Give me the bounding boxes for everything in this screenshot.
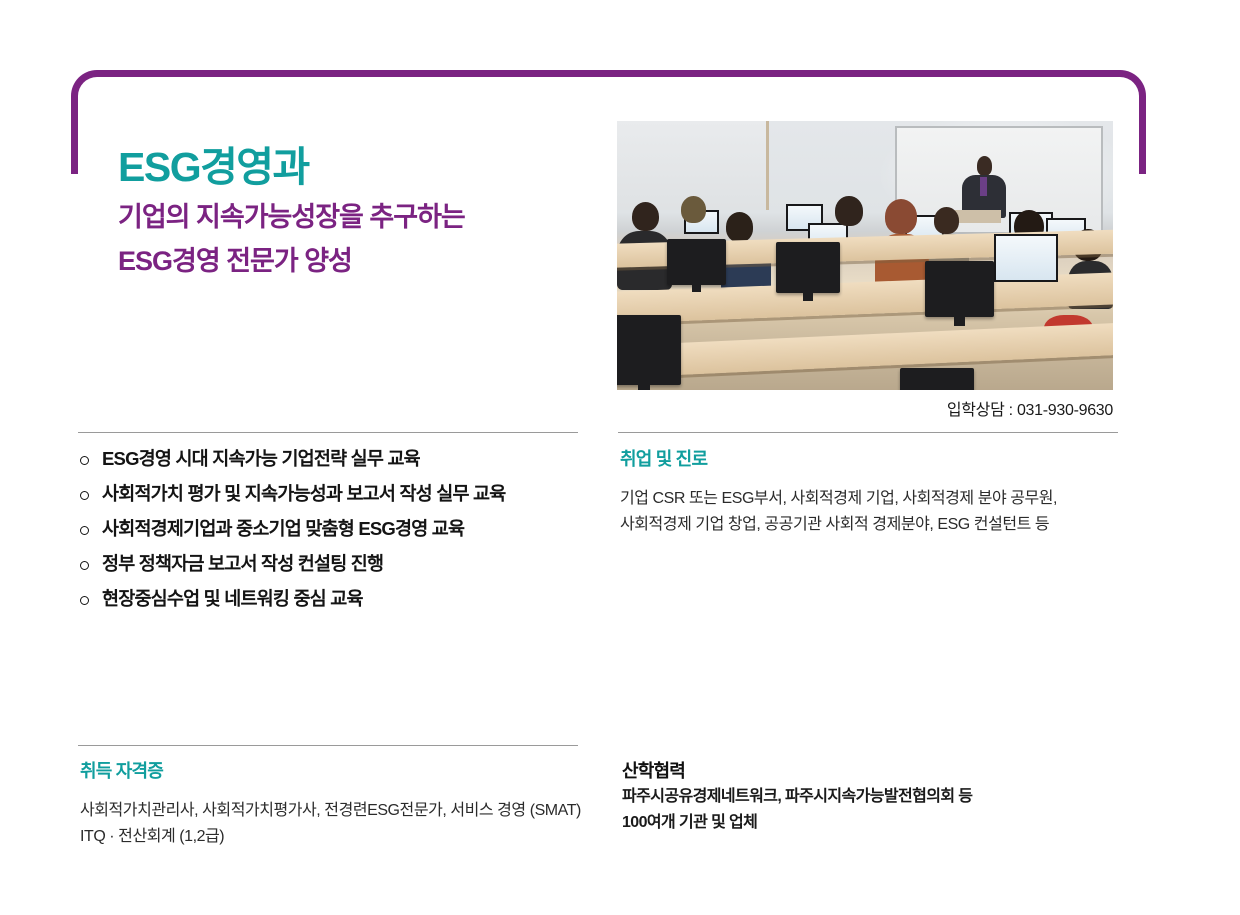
classroom-photo-image <box>617 121 1113 390</box>
photo-student-head <box>632 202 659 232</box>
photo-student-head <box>934 207 959 234</box>
photo-student-head <box>835 196 862 226</box>
admissions-contact: 입학상담 : 031-930-9630 <box>617 396 1113 420</box>
divider-right-top <box>618 432 1118 433</box>
photo-monitor <box>900 368 974 390</box>
list-item: 사회적경제기업과 중소기업 맞춤형 ESG경영 교육 <box>80 520 600 539</box>
brochure-page: ESG경영과 기업의 지속가능성장을 추구하는 ESG경영 전문가 양성 <box>0 0 1240 915</box>
certifications-heading: 취득 자격증 <box>80 762 620 780</box>
careers-section: 취업 및 진로 기업 CSR 또는 ESG부서, 사회적경제 기업, 사회적경제… <box>620 450 1140 538</box>
list-item: 정부 정책자금 보고서 작성 컨설팅 진행 <box>80 555 600 574</box>
careers-heading: 취업 및 진로 <box>620 450 1140 468</box>
photo-monitor <box>925 261 994 317</box>
industry-line-2: 100여개 기관 및 업체 <box>622 810 1122 836</box>
photo-monitor <box>617 315 681 385</box>
photo-instructor-head <box>977 156 993 176</box>
list-item: 현장중심수업 및 네트워킹 중심 교육 <box>80 590 600 609</box>
photo-monitor-screen <box>994 234 1058 282</box>
industry-cooperation-heading: 산학협력 <box>622 762 1122 780</box>
photo-monitor <box>776 242 840 293</box>
feature-list: ESG경영 시대 지속가능 기업전략 실무 교육 사회적가치 평가 및 지속가능… <box>80 450 600 625</box>
careers-line-2: 사회적경제 기업 창업, 공공기관 사회적 경제분야, ESG 컨설턴트 등 <box>620 512 1140 538</box>
industry-cooperation-body: 파주시공유경제네트워크, 파주시지속가능발전협의회 등 100여개 기관 및 업… <box>622 784 1122 836</box>
careers-line-1: 기업 CSR 또는 ESG부서, 사회적경제 기업, 사회적경제 분야 공무원, <box>620 486 1140 512</box>
photo-lectern <box>952 210 1002 223</box>
divider-left-top <box>78 432 578 433</box>
certifications-line-1: 사회적가치관리사, 사회적가치평가사, 전경련ESG전문가, 서비스 경영 (S… <box>80 798 620 824</box>
photo-monitor <box>667 239 727 285</box>
page-title: ESG경영과 <box>118 145 309 190</box>
industry-line-1: 파주시공유경제네트워크, 파주시지속가능발전협의회 등 <box>622 784 1122 810</box>
photo-desk <box>617 321 1113 378</box>
certifications-body: 사회적가치관리사, 사회적가치평가사, 전경련ESG전문가, 서비스 경영 (S… <box>80 798 620 850</box>
certifications-line-2: ITQ · 전산회계 (1,2급) <box>80 824 620 850</box>
photo-student-head <box>885 199 917 234</box>
certifications-section: 취득 자격증 사회적가치관리사, 사회적가치평가사, 전경련ESG전문가, 서비… <box>80 762 620 850</box>
careers-body: 기업 CSR 또는 ESG부서, 사회적경제 기업, 사회적경제 분야 공무원,… <box>620 486 1140 538</box>
photo-student-head <box>681 196 706 223</box>
tagline-line-1: 기업의 지속가능성장을 추구하는 <box>118 196 465 240</box>
photo-student-head <box>726 212 753 242</box>
list-item: ESG경영 시대 지속가능 기업전략 실무 교육 <box>80 450 600 469</box>
industry-cooperation-section: 산학협력 파주시공유경제네트워크, 파주시지속가능발전협의회 등 100여개 기… <box>622 762 1122 836</box>
list-item: 사회적가치 평가 및 지속가능성과 보고서 작성 실무 교육 <box>80 485 600 504</box>
divider-left-bottom <box>78 745 578 746</box>
department-tagline: 기업의 지속가능성장을 추구하는 ESG경영 전문가 양성 <box>118 196 465 283</box>
classroom-photo <box>617 121 1113 390</box>
tagline-line-2: ESG경영 전문가 양성 <box>118 240 465 284</box>
photo-instructor-tie <box>980 177 987 196</box>
